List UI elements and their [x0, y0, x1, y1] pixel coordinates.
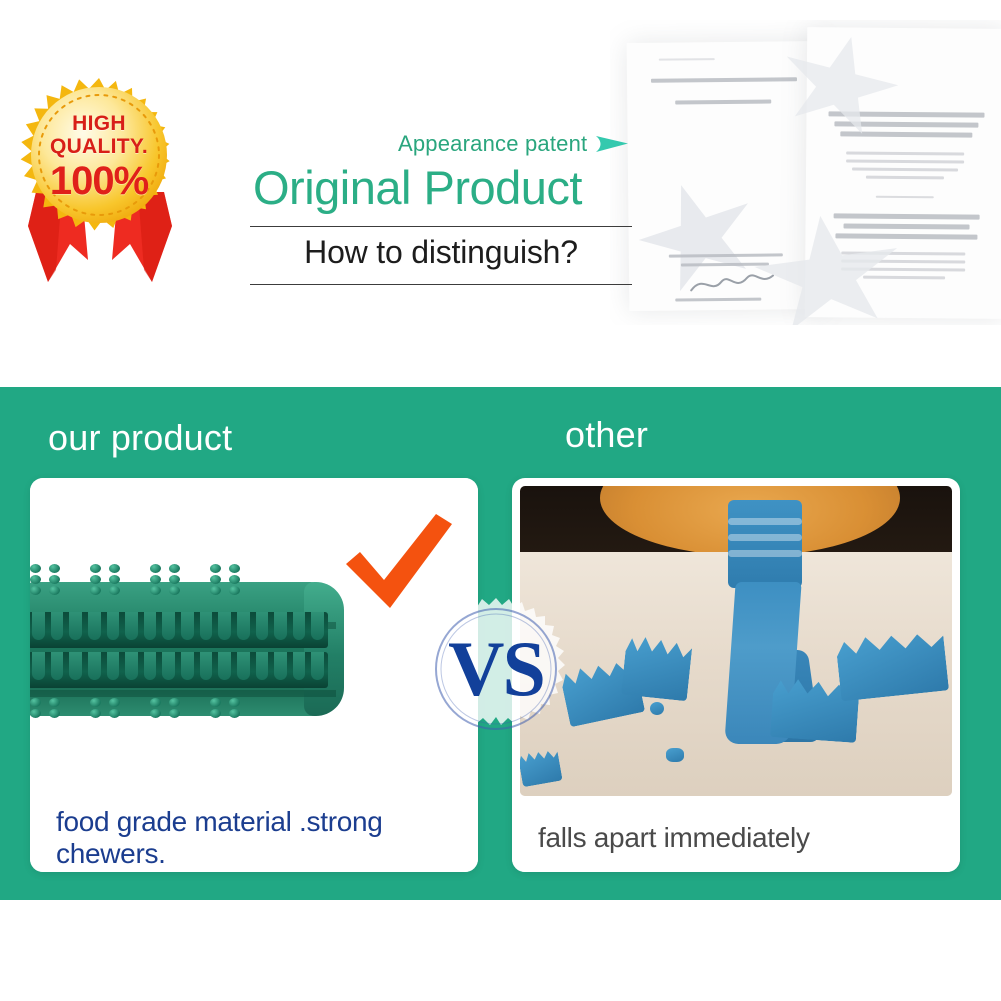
vs-label: VS [424, 596, 568, 742]
page-subtitle: How to distinguish? [250, 234, 632, 271]
toy-fragment [650, 702, 664, 715]
certificate-page-right [805, 27, 1001, 319]
divider-bottom [250, 284, 632, 285]
page-title: Original Product [253, 160, 633, 215]
column-label-other: other [565, 414, 648, 456]
other-product-caption: falls apart immediately [538, 822, 810, 854]
our-product-caption-row: food grade material .strong chewers. [30, 804, 478, 872]
green-toy-illustration [30, 564, 342, 734]
broken-blue-toy-image [520, 486, 952, 796]
patent-certificate-image [610, 20, 1001, 325]
divider-top [250, 226, 632, 227]
other-product-caption-row: falls apart immediately [512, 804, 960, 872]
quality-badge: HIGH QUALITY. 100% [14, 78, 184, 293]
signature-mark [687, 269, 777, 296]
other-product-card: falls apart immediately [512, 478, 960, 872]
column-label-our-product: our product [48, 417, 232, 459]
header-section: HIGH QUALITY. 100% Appearance patent Ori… [0, 0, 1001, 387]
appearance-patent-label: Appearance patent [398, 131, 587, 157]
right-arrow-icon [595, 133, 629, 155]
appearance-patent-row: Appearance patent [398, 131, 629, 157]
our-product-caption: food grade material .strong chewers. [56, 806, 478, 870]
toy-fragment [666, 748, 684, 762]
vs-badge: VS [424, 596, 568, 742]
rosette-icon [20, 78, 178, 236]
